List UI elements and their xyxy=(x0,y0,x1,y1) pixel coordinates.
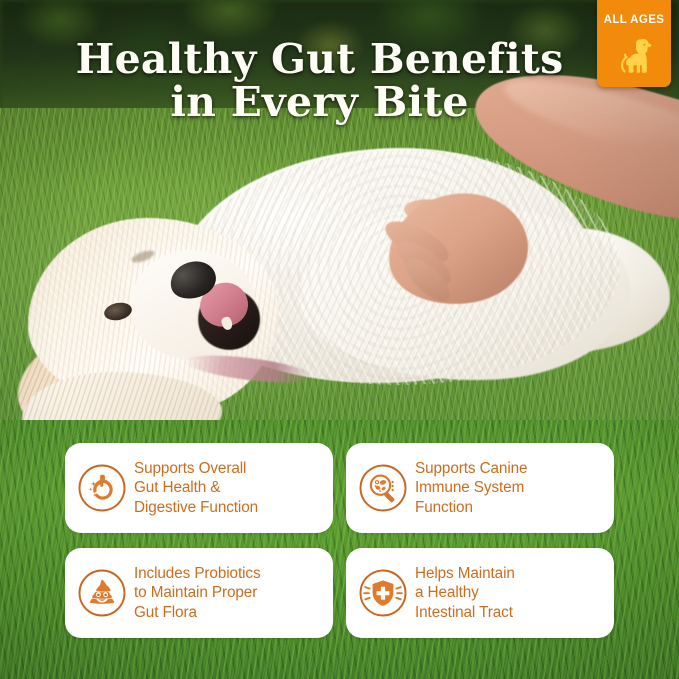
benefit-line: Includes Probiotics xyxy=(134,564,261,583)
benefit-card-text: Includes Probiotics to Maintain Proper G… xyxy=(134,564,261,621)
benefit-line: Intestinal Tract xyxy=(415,603,515,622)
all-ages-label: ALL AGES xyxy=(604,14,665,26)
benefit-card-text: Supports Canine Immune System Function xyxy=(415,459,527,516)
benefit-cards-grid: Supports Overall Gut Health & Digestive … xyxy=(65,443,614,638)
benefit-line: Supports Overall xyxy=(134,459,258,478)
benefit-card-intestinal-tract[interactable]: Helps Maintain a Healthy Intestinal Trac… xyxy=(346,548,614,638)
benefit-line: a Healthy xyxy=(415,583,515,602)
product-infographic-poster: Healthy Gut Benefits in Every Bite ALL A… xyxy=(0,0,679,679)
benefit-line: to Maintain Proper xyxy=(134,583,261,602)
benefit-card-probiotics[interactable]: Includes Probiotics to Maintain Proper G… xyxy=(65,548,333,638)
magnifier-microbes-icon xyxy=(357,462,409,514)
all-ages-badge: ALL AGES xyxy=(597,0,671,87)
page-title: Healthy Gut Benefits in Every Bite xyxy=(0,38,679,124)
sitting-dog-silhouette-icon xyxy=(611,31,657,84)
headline-line-1: Healthy Gut Benefits xyxy=(76,35,564,83)
headline-line-2: in Every Bite xyxy=(40,81,599,124)
benefit-line: Helps Maintain xyxy=(415,564,515,583)
benefit-line: Supports Canine xyxy=(415,459,527,478)
benefit-card-text: Helps Maintain a Healthy Intestinal Trac… xyxy=(415,564,515,621)
benefit-line: Digestive Function xyxy=(134,498,258,517)
benefit-line: Function xyxy=(415,498,527,517)
benefit-card-gut-health[interactable]: Supports Overall Gut Health & Digestive … xyxy=(65,443,333,533)
benefit-line: Gut Health & xyxy=(134,478,258,497)
stomach-icon xyxy=(76,462,128,514)
shield-plus-icon xyxy=(357,567,409,619)
benefit-line: Gut Flora xyxy=(134,603,261,622)
poop-emoji-icon xyxy=(76,567,128,619)
benefit-line: Immune System xyxy=(415,478,527,497)
benefit-card-text: Supports Overall Gut Health & Digestive … xyxy=(134,459,258,516)
benefit-card-immune-system[interactable]: Supports Canine Immune System Function xyxy=(346,443,614,533)
